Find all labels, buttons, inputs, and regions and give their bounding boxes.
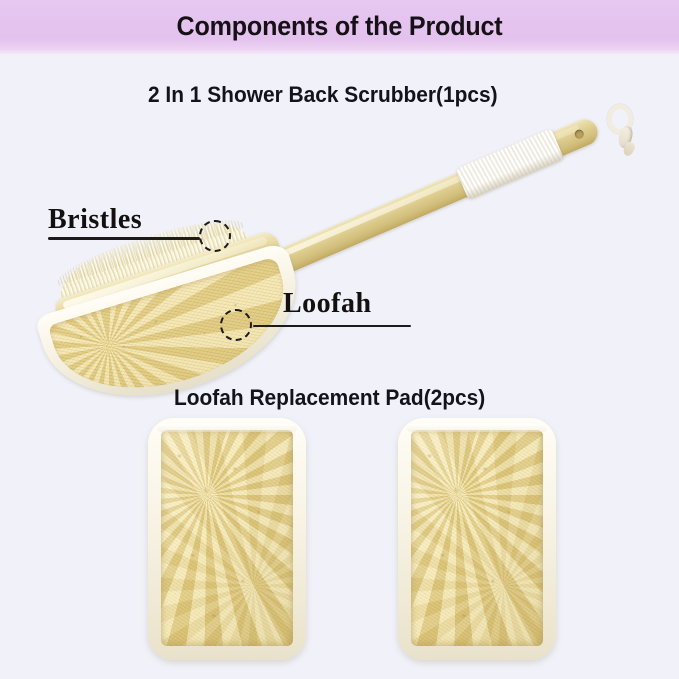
loofah-pad-face — [411, 430, 543, 646]
handle-hang-hole — [573, 128, 585, 140]
page-title: Components of the Product — [24, 2, 655, 50]
replacement-pads-caption: Loofah Replacement Pad(2pcs) — [174, 385, 485, 411]
callout-label-bristles: Bristles — [48, 204, 142, 236]
callout-leader-loofah — [253, 325, 411, 327]
loofah-pad-seam — [157, 424, 297, 432]
loofah-replacement-pad-2 — [398, 418, 556, 660]
callout-label-loofah: Loofah — [283, 288, 372, 320]
cord-grip-wrap — [455, 128, 564, 199]
product-infographic: Components of the Product 2 In 1 Shower … — [0, 0, 679, 679]
callout-leader-bristles — [48, 237, 200, 240]
loofah-pad-face — [161, 430, 293, 646]
callout-marker-loofah-icon — [220, 309, 252, 341]
callout-marker-bristles-icon — [199, 220, 231, 252]
loofah-replacement-pad-1 — [148, 418, 306, 660]
loofah-pad-seam — [407, 424, 547, 432]
